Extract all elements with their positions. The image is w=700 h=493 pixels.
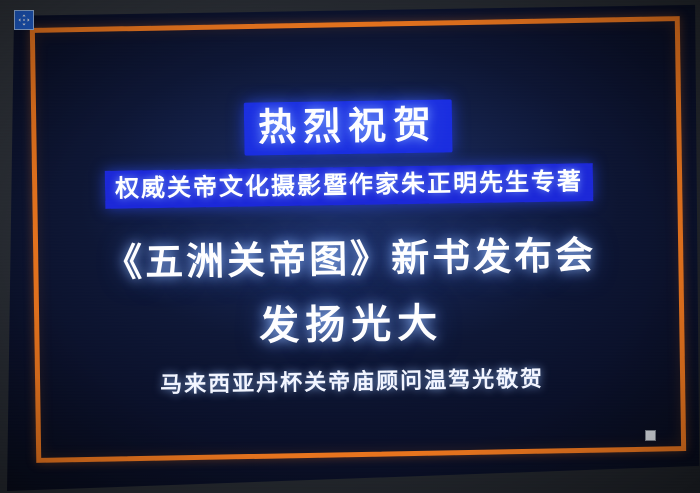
book-title: 《五洲关帝图》新书发布会 — [0, 223, 700, 289]
author-text: 权威关帝文化摄影暨作家朱正明先生专著 — [105, 163, 594, 209]
projected-slide-photo: 热烈祝贺 权威关帝文化摄影暨作家朱正明先生专著 《五洲关帝图》新书发布会 发扬光… — [0, 0, 700, 493]
resize-handle-dot[interactable] — [645, 430, 656, 441]
congratulation-text: 热烈祝贺 — [244, 99, 453, 155]
move-handle-icon[interactable] — [14, 10, 34, 30]
donor-credit: 马来西亚丹杯关帝庙顾问温驾光敬贺 — [2, 358, 700, 401]
slogan-text: 发扬光大 — [1, 286, 700, 355]
slide-content: 热烈祝贺 权威关帝文化摄影暨作家朱正明先生专著 《五洲关帝图》新书发布会 发扬光… — [0, 0, 700, 493]
congratulation-heading: 热烈祝贺 — [0, 90, 698, 156]
author-subtitle: 权威关帝文化摄影暨作家朱正明先生专著 — [0, 160, 699, 206]
